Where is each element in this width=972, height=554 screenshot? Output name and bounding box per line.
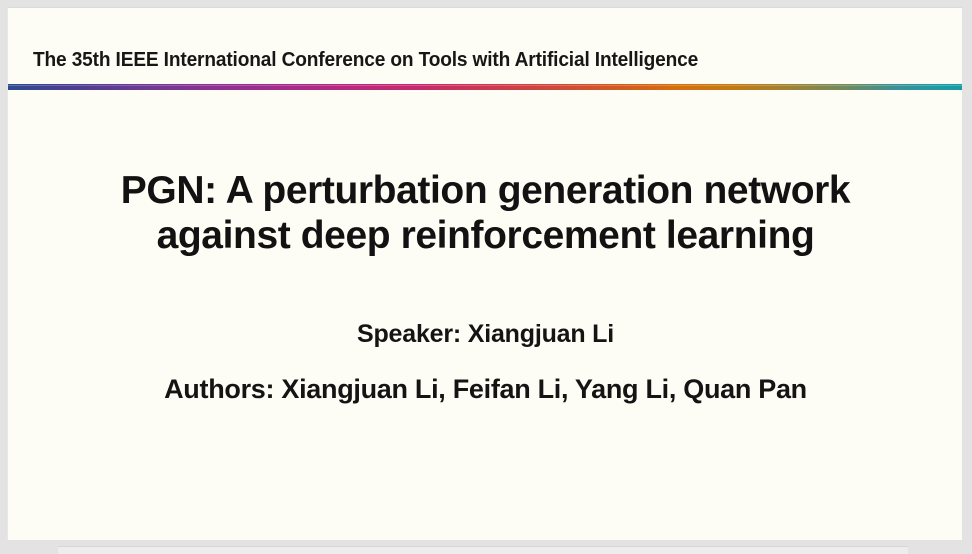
divider-highlight xyxy=(8,85,962,86)
slide-stage: The 35th IEEE International Conference o… xyxy=(0,0,972,554)
gradient-divider-rule xyxy=(8,84,962,90)
presentation-slide: The 35th IEEE International Conference o… xyxy=(7,7,962,540)
stage-edge-right xyxy=(962,0,972,554)
conference-header: The 35th IEEE International Conference o… xyxy=(33,44,933,76)
stage-edge-bottom-line xyxy=(58,546,908,554)
conference-title-text: The 35th IEEE International Conference o… xyxy=(33,49,698,72)
page-title: PGN: A perturbation generation network a… xyxy=(8,168,962,258)
authors-text: Authors: Xiangjuan Li, Feifan Li, Yang L… xyxy=(8,372,962,406)
presenter-block: Speaker: Xiangjuan Li Authors: Xiangjuan… xyxy=(8,318,962,406)
title-line-1: PGN: A perturbation generation network xyxy=(8,168,962,213)
title-line-2: against deep reinforcement learning xyxy=(8,213,962,258)
title-block: PGN: A perturbation generation network a… xyxy=(8,168,962,258)
speaker-text: Speaker: Xiangjuan Li xyxy=(8,318,962,350)
stage-edge-bottom xyxy=(0,540,972,554)
